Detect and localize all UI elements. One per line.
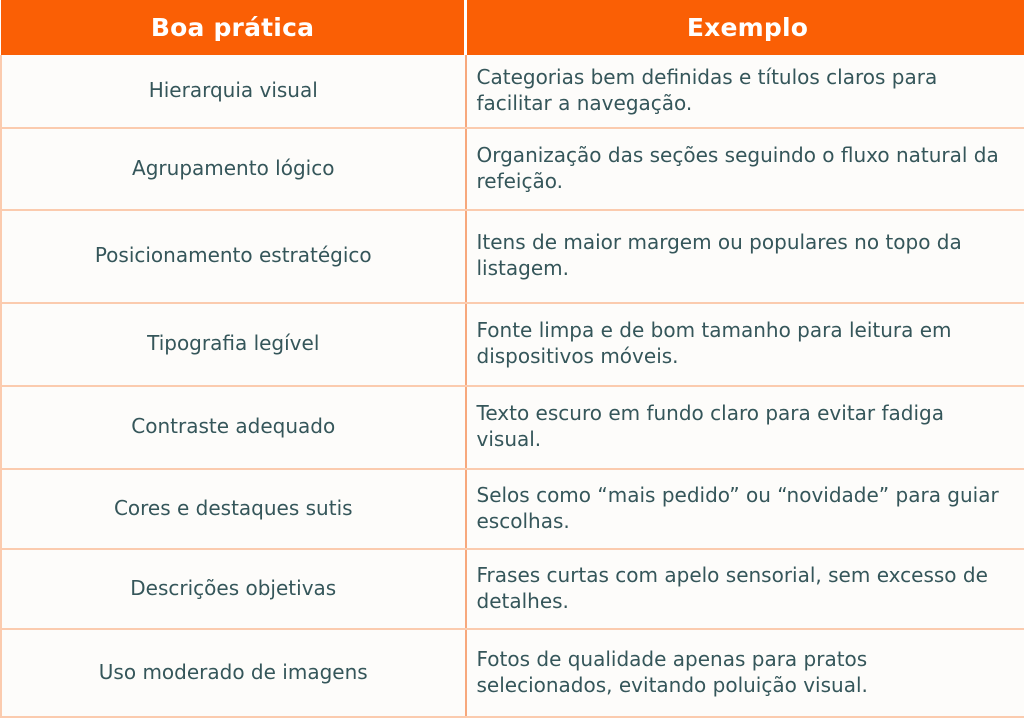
cell-example: Frases curtas com apelo sensorial, sem e… [466, 549, 1024, 629]
cell-practice: Posicionamento estratégico [1, 210, 466, 303]
table-row: Posicionamento estratégico Itens de maio… [1, 210, 1024, 303]
cell-example: Itens de maior margem ou populares no to… [466, 210, 1024, 303]
table-row: Uso moderado de imagens Fotos de qualida… [1, 629, 1024, 717]
table-row: Tipografia legível Fonte limpa e de bom … [1, 303, 1024, 386]
cell-practice: Contraste adequado [1, 386, 466, 469]
cell-example: Selos como “mais pedido” ou “novidade” p… [466, 469, 1024, 549]
table-row: Cores e destaques sutis Selos como “mais… [1, 469, 1024, 549]
cell-practice: Hierarquia visual [1, 55, 466, 128]
column-header-boa-pratica: Boa prática [1, 0, 466, 55]
cell-practice: Cores e destaques sutis [1, 469, 466, 549]
table-row: Descrições objetivas Frases curtas com a… [1, 549, 1024, 629]
cell-practice: Descrições objetivas [1, 549, 466, 629]
cell-example: Fonte limpa e de bom tamanho para leitur… [466, 303, 1024, 386]
table-body: Hierarquia visual Categorias bem definid… [1, 55, 1024, 717]
cell-example: Fotos de qualidade apenas para pratos se… [466, 629, 1024, 717]
cell-example: Categorias bem definidas e títulos claro… [466, 55, 1024, 128]
cell-example: Texto escuro em fundo claro para evitar … [466, 386, 1024, 469]
cell-example: Organização das seções seguindo o fluxo … [466, 128, 1024, 210]
cell-practice: Uso moderado de imagens [1, 629, 466, 717]
table-row: Contraste adequado Texto escuro em fundo… [1, 386, 1024, 469]
column-header-exemplo: Exemplo [466, 0, 1024, 55]
table-row: Hierarquia visual Categorias bem definid… [1, 55, 1024, 128]
table-header-row: Boa prática Exemplo [1, 0, 1024, 55]
table-header: Boa prática Exemplo [1, 0, 1024, 55]
table-row: Agrupamento lógico Organização das seçõe… [1, 128, 1024, 210]
best-practices-table-container: Boa prática Exemplo Hierarquia visual Ca… [0, 0, 1024, 576]
best-practices-table: Boa prática Exemplo Hierarquia visual Ca… [0, 0, 1024, 718]
cell-practice: Agrupamento lógico [1, 128, 466, 210]
cell-practice: Tipografia legível [1, 303, 466, 386]
